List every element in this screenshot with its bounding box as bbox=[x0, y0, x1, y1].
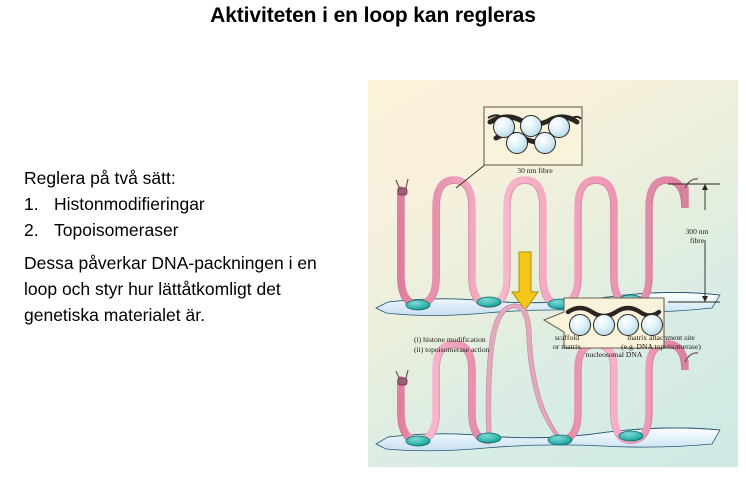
slide: Aktiviteten i en loop kan regleras Regle… bbox=[0, 0, 746, 482]
label-scaffold-top: scaffold bbox=[544, 333, 590, 342]
callout-30nm-fibre bbox=[456, 107, 582, 188]
label-matrix-attachment-site: matrix attachment site bbox=[598, 333, 724, 342]
list-item: 1. Histonmodifieringar bbox=[24, 191, 354, 217]
label-300nm-fibre-line2: fibre bbox=[674, 236, 720, 245]
label-step-topoisomerase-action: (ii) topoisomerase action bbox=[414, 345, 490, 354]
body-paragraph: Dessa påverkar DNA-packningen i en loop … bbox=[24, 250, 344, 328]
transition-arrow bbox=[512, 252, 538, 310]
list-item: 2. Topoisomeraser bbox=[24, 217, 354, 243]
diagram-svg bbox=[368, 80, 738, 467]
label-300nm-fibre-line1: 300 nm bbox=[674, 227, 720, 236]
list-item-number: 1. bbox=[24, 191, 54, 217]
label-nucleosomal-dna: nucleosomal DNA bbox=[564, 350, 664, 359]
label-30nm-fibre: 30 nm fibre bbox=[498, 166, 572, 175]
list-item-label: Topoisomeraser bbox=[54, 217, 179, 243]
list-item-label: Histonmodifieringar bbox=[54, 191, 205, 217]
body-text-block: Reglera på två sätt: 1. Histonmodifierin… bbox=[24, 165, 354, 243]
regulation-list: 1. Histonmodifieringar 2. Topoisomeraser bbox=[24, 191, 354, 243]
list-item-number: 2. bbox=[24, 217, 54, 243]
decondensed-loop bbox=[488, 306, 560, 438]
page-title: Aktiviteten i en loop kan regleras bbox=[0, 4, 746, 28]
label-step-histone-modification: (i) histone modification bbox=[414, 335, 486, 344]
lead-line: Reglera på två sätt: bbox=[24, 165, 354, 191]
chromatin-loop-diagram: 30 nm fibre 300 nm fibre scaffold or mat… bbox=[368, 80, 738, 467]
chromatin-loops-top bbox=[401, 180, 685, 304]
chromatin-loops-top-outline bbox=[398, 184, 682, 308]
